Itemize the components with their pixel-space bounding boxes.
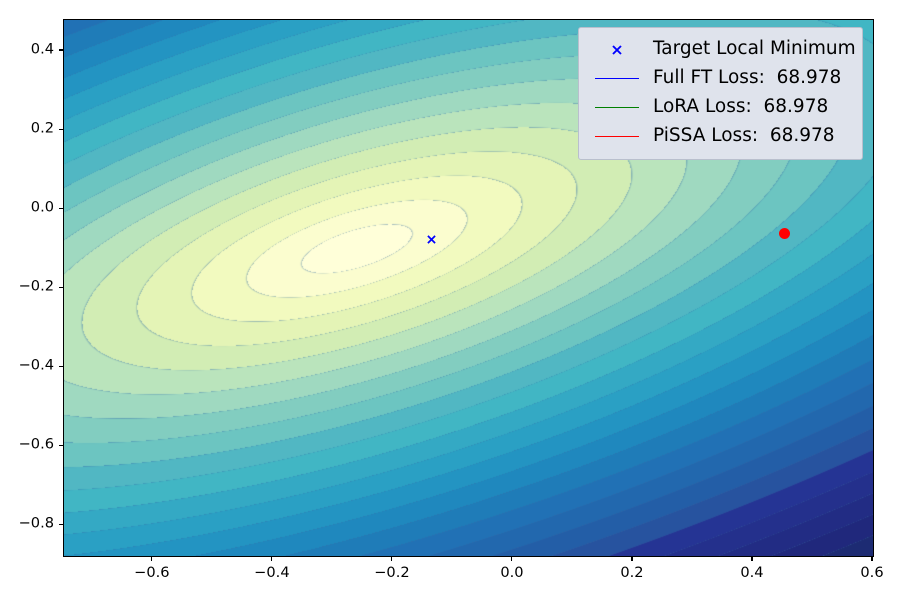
legend-label: PiSSA Loss: 68.978 xyxy=(653,127,835,146)
x-tick-label: −0.2 xyxy=(374,566,409,581)
y-tick-label: −0.8 xyxy=(19,517,54,532)
y-tick-mark xyxy=(59,49,64,50)
y-tick-mark xyxy=(59,208,64,209)
legend-line-swatch-icon xyxy=(589,98,645,118)
y-tick-mark xyxy=(59,445,64,446)
y-tick-mark xyxy=(59,524,64,525)
y-tick-mark xyxy=(59,287,64,288)
x-tick-label: −0.4 xyxy=(254,566,289,581)
x-tick-mark xyxy=(271,556,272,561)
legend-line-swatch-icon xyxy=(589,127,645,147)
legend-label: Full FT Loss: 68.978 xyxy=(653,69,841,88)
y-tick-label: −0.2 xyxy=(19,280,54,295)
x-tick-label: 0.0 xyxy=(500,566,523,581)
legend-line xyxy=(595,78,639,79)
x-tick-label: −0.6 xyxy=(134,566,169,581)
figure: 0.40.20.0−0.2−0.4−0.6−0.8 −0.6−0.4−0.20.… xyxy=(0,0,900,600)
x-tick-label: 0.2 xyxy=(620,566,643,581)
x-tick-mark xyxy=(631,556,632,561)
x-tick-label: 0.4 xyxy=(740,566,763,581)
y-tick-label: 0.0 xyxy=(31,201,54,216)
x-tick-mark xyxy=(511,556,512,561)
y-tick-label: 0.2 xyxy=(31,122,54,137)
legend-entry-3[interactable]: PiSSA Loss: 68.978 xyxy=(589,122,852,151)
y-tick-label: −0.6 xyxy=(19,438,54,453)
legend-x-marker-icon xyxy=(589,40,645,60)
legend-entry-1[interactable]: Full FT Loss: 68.978 xyxy=(589,64,852,93)
y-tick-mark xyxy=(59,129,64,130)
legend-line xyxy=(595,107,639,108)
legend-entry-2[interactable]: LoRA Loss: 68.978 xyxy=(589,93,852,122)
legend-entry-0[interactable]: Target Local Minimum xyxy=(589,35,852,64)
x-tick-label: 0.6 xyxy=(860,566,883,581)
y-tick-label: −0.4 xyxy=(19,359,54,374)
x-tick-mark xyxy=(151,556,152,561)
x-tick-mark xyxy=(751,556,752,561)
legend-line xyxy=(595,136,639,137)
x-tick-mark xyxy=(871,556,872,561)
x-tick-mark xyxy=(391,556,392,561)
legend-label: LoRA Loss: 68.978 xyxy=(653,98,828,117)
legend-line-swatch-icon xyxy=(589,69,645,89)
legend[interactable]: Target Local MinimumFull FT Loss: 68.978… xyxy=(578,27,863,160)
y-tick-mark xyxy=(59,366,64,367)
legend-label: Target Local Minimum xyxy=(653,40,856,59)
y-tick-label: 0.4 xyxy=(31,43,54,58)
